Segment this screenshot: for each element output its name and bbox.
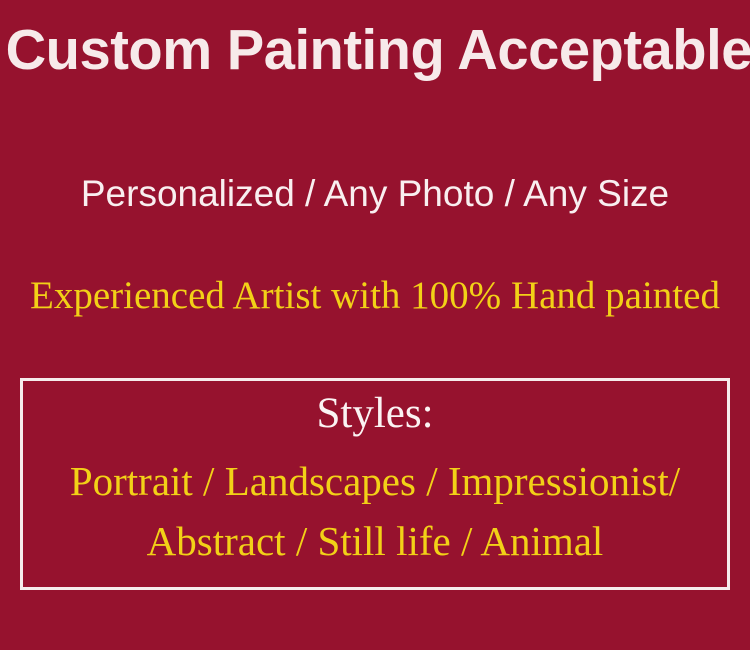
styles-heading: Styles: [23, 389, 727, 439]
page-title: Custom Painting Acceptable [6, 18, 745, 82]
artist-claim-line: Experienced Artist with 100% Hand painte… [0, 272, 750, 320]
styles-box: Styles: Portrait / Landscapes / Impressi… [20, 378, 730, 590]
promo-banner: Custom Painting Acceptable Personalized … [0, 0, 750, 650]
subtitle-offer-line: Personalized / Any Photo / Any Size [0, 172, 750, 216]
styles-row: Portrait / Landscapes / Impressionist/ [23, 457, 727, 505]
styles-row: Abstract / Still life / Animal [23, 517, 727, 565]
